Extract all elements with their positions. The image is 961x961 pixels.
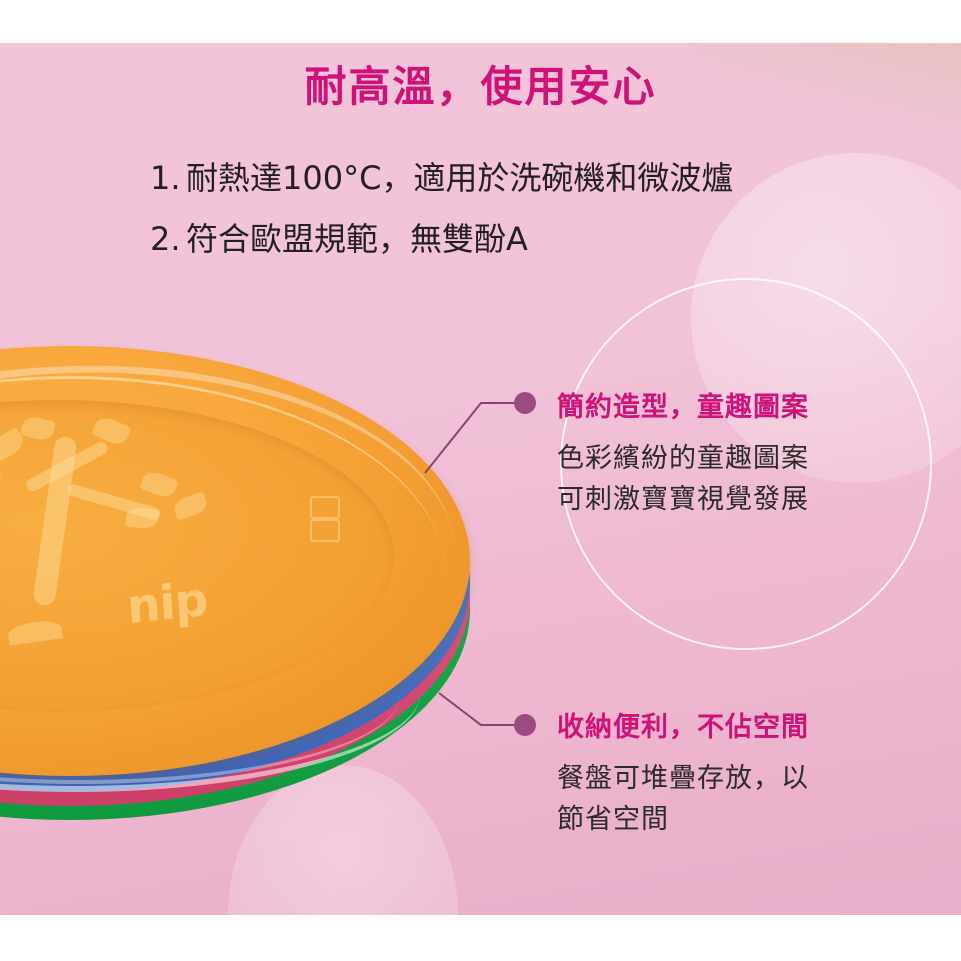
callout-body: 色彩繽紛的童趣圖案 可刺激寶寶視覺發展	[557, 438, 809, 520]
bird-emboss	[7, 618, 63, 645]
leaf-emboss	[20, 414, 56, 442]
dishwasher-safe-symbol	[310, 496, 340, 519]
callout-heading: 簡約造型，童趣圖案	[557, 385, 809, 424]
callout-body-line: 節省空間	[557, 799, 809, 840]
callout-body: 餐盤可堆疊存放，以 節省空間	[557, 758, 809, 840]
microwave-safe-symbol	[310, 519, 340, 542]
list-item-number: 1.	[150, 148, 186, 209]
callout-heading: 收納便利，不佔空間	[557, 705, 809, 744]
brand-logo-nip: nip	[125, 572, 209, 635]
feature-list: 1. 耐熱達100°C，適用於洗碗機和微波爐 2. 符合歐盟規範，無雙酚A	[150, 148, 910, 270]
list-item-text: 符合歐盟規範，無雙酚A	[186, 209, 528, 270]
product-plate-stack: nip Made in Ge	[0, 330, 470, 830]
callout-simple-design: 簡約造型，童趣圖案 色彩繽紛的童趣圖案 可刺激寶寶視覺發展	[557, 385, 809, 520]
page-title: 耐高溫，使用安心	[0, 53, 961, 114]
callout-body-line: 可刺激寶寶視覺發展	[557, 479, 809, 520]
callout-body-line: 餐盤可堆疊存放，以	[557, 758, 809, 799]
leaf-emboss	[172, 491, 210, 520]
list-item: 1. 耐熱達100°C，適用於洗碗機和微波爐	[150, 148, 910, 209]
leaf-emboss	[0, 463, 3, 490]
list-item: 2. 符合歐盟規範，無雙酚A	[150, 209, 910, 270]
callout-body-line: 色彩繽紛的童趣圖案	[557, 438, 809, 479]
list-item-text: 耐熱達100°C，適用於洗碗機和微波爐	[186, 148, 733, 209]
list-item-number: 2.	[150, 209, 186, 270]
promo-image: 耐高溫，使用安心 1. 耐熱達100°C，適用於洗碗機和微波爐 2. 符合歐盟規…	[0, 0, 961, 961]
callout-stackable-storage: 收納便利，不佔空間 餐盤可堆疊存放，以 節省空間	[557, 705, 809, 840]
leaf-emboss	[139, 468, 178, 500]
leaf-emboss	[125, 506, 159, 529]
